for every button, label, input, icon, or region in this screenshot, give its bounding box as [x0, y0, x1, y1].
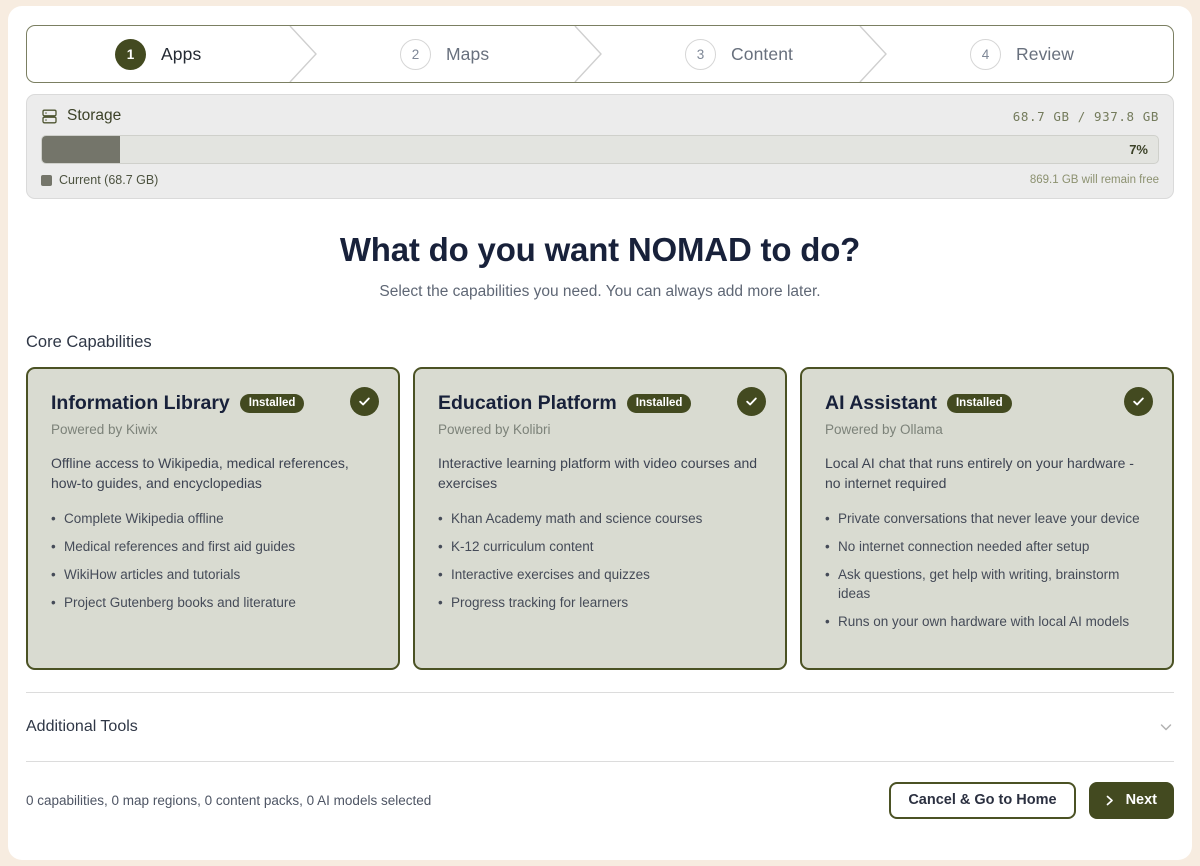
capability-card-ai-assistant[interactable]: AI Assistant Installed Powered by Ollama… [800, 367, 1174, 670]
storage-free-note: 869.1 GB will remain free [1030, 174, 1159, 186]
additional-tools-label: Additional Tools [26, 718, 138, 736]
capability-description: Interactive learning platform with video… [438, 454, 763, 494]
chevron-right-icon [1103, 794, 1116, 807]
step-maps-number: 2 [400, 39, 431, 70]
storage-title-label: Storage [67, 107, 121, 125]
list-item: Medical references and first aid guides [51, 537, 376, 556]
check-circle-icon[interactable] [737, 387, 766, 416]
status-badge: Installed [240, 394, 305, 413]
capability-title-row: Information Library Installed [51, 392, 376, 415]
check-circle-icon[interactable] [350, 387, 379, 416]
wizard-footer: 0 capabilities, 0 map regions, 0 content… [26, 762, 1174, 838]
selection-summary: 0 capabilities, 0 map regions, 0 content… [26, 793, 431, 808]
status-badge: Installed [627, 394, 692, 413]
capability-description: Offline access to Wikipedia, medical ref… [51, 454, 376, 494]
list-item: Ask questions, get help with writing, br… [825, 565, 1150, 603]
capability-feature-list: Khan Academy math and science courses K-… [438, 509, 763, 613]
hero-section: What do you want NOMAD to do? Select the… [26, 231, 1174, 301]
step-maps[interactable]: 2 Maps [318, 26, 603, 82]
step-apps-number: 1 [115, 39, 146, 70]
list-item: No internet connection needed after setu… [825, 537, 1150, 556]
next-button[interactable]: Next [1089, 782, 1174, 819]
check-circle-icon[interactable] [1124, 387, 1153, 416]
wizard-stepper: 1 Apps 2 Maps 3 Content 4 Review [26, 25, 1174, 83]
list-item: Progress tracking for learners [438, 593, 763, 612]
chevron-down-icon[interactable] [1158, 719, 1174, 735]
page-subtitle: Select the capabilities you need. You ca… [26, 283, 1174, 301]
capability-title-row: AI Assistant Installed [825, 392, 1150, 415]
storage-legend: Current (68.7 GB) [41, 173, 158, 187]
capability-card-grid: Information Library Installed Powered by… [26, 367, 1174, 670]
capability-description: Local AI chat that runs entirely on your… [825, 454, 1150, 494]
step-content-number: 3 [685, 39, 716, 70]
footer-actions: Cancel & Go to Home Next [889, 782, 1174, 819]
step-content-label: Content [731, 44, 793, 65]
storage-header: Storage 68.7 GB / 937.8 GB [41, 107, 1159, 125]
list-item: Private conversations that never leave y… [825, 509, 1150, 528]
database-icon [41, 108, 58, 125]
list-item: K-12 curriculum content [438, 537, 763, 556]
additional-tools-accordion[interactable]: Additional Tools [26, 692, 1174, 762]
capability-title: Education Platform [438, 392, 617, 415]
storage-progress-bar: 7% [41, 135, 1159, 164]
step-content[interactable]: 3 Content [603, 26, 888, 82]
storage-footer: Current (68.7 GB) 869.1 GB will remain f… [41, 173, 1159, 187]
core-capabilities-heading: Core Capabilities [26, 333, 1174, 352]
list-item: Khan Academy math and science courses [438, 509, 763, 528]
step-review-label: Review [1016, 44, 1074, 65]
list-item: WikiHow articles and tutorials [51, 565, 376, 584]
step-apps[interactable]: 1 Apps [27, 26, 318, 82]
status-badge: Installed [947, 394, 1012, 413]
storage-progress-fill [42, 136, 120, 163]
storage-percent-label: 7% [1129, 142, 1148, 157]
step-apps-label: Apps [161, 44, 201, 65]
step-separator-icon [289, 26, 319, 82]
step-review-number: 4 [970, 39, 1001, 70]
step-maps-label: Maps [446, 44, 489, 65]
cancel-button[interactable]: Cancel & Go to Home [889, 782, 1075, 819]
step-separator-icon [859, 26, 889, 82]
capability-title-row: Education Platform Installed [438, 392, 763, 415]
capability-subtitle: Powered by Ollama [825, 422, 1150, 437]
storage-legend-label: Current (68.7 GB) [59, 173, 158, 187]
capability-subtitle: Powered by Kolibri [438, 422, 763, 437]
list-item: Complete Wikipedia offline [51, 509, 376, 528]
step-review[interactable]: 4 Review [888, 26, 1173, 82]
capability-card-education-platform[interactable]: Education Platform Installed Powered by … [413, 367, 787, 670]
storage-card: Storage 68.7 GB / 937.8 GB 7% Current (6… [26, 94, 1174, 199]
capability-subtitle: Powered by Kiwix [51, 422, 376, 437]
list-item: Project Gutenberg books and literature [51, 593, 376, 612]
legend-swatch-current [41, 175, 52, 186]
capability-feature-list: Complete Wikipedia offline Medical refer… [51, 509, 376, 613]
step-separator-icon [574, 26, 604, 82]
storage-title: Storage [41, 107, 121, 125]
capability-title: AI Assistant [825, 392, 937, 415]
wizard-panel: 1 Apps 2 Maps 3 Content 4 Review [8, 6, 1192, 860]
page-title: What do you want NOMAD to do? [26, 231, 1174, 269]
list-item: Interactive exercises and quizzes [438, 565, 763, 584]
list-item: Runs on your own hardware with local AI … [825, 612, 1150, 631]
storage-usage-readout: 68.7 GB / 937.8 GB [1013, 109, 1159, 124]
next-button-label: Next [1126, 792, 1157, 808]
capability-card-information-library[interactable]: Information Library Installed Powered by… [26, 367, 400, 670]
capability-title: Information Library [51, 392, 230, 415]
capability-feature-list: Private conversations that never leave y… [825, 509, 1150, 632]
